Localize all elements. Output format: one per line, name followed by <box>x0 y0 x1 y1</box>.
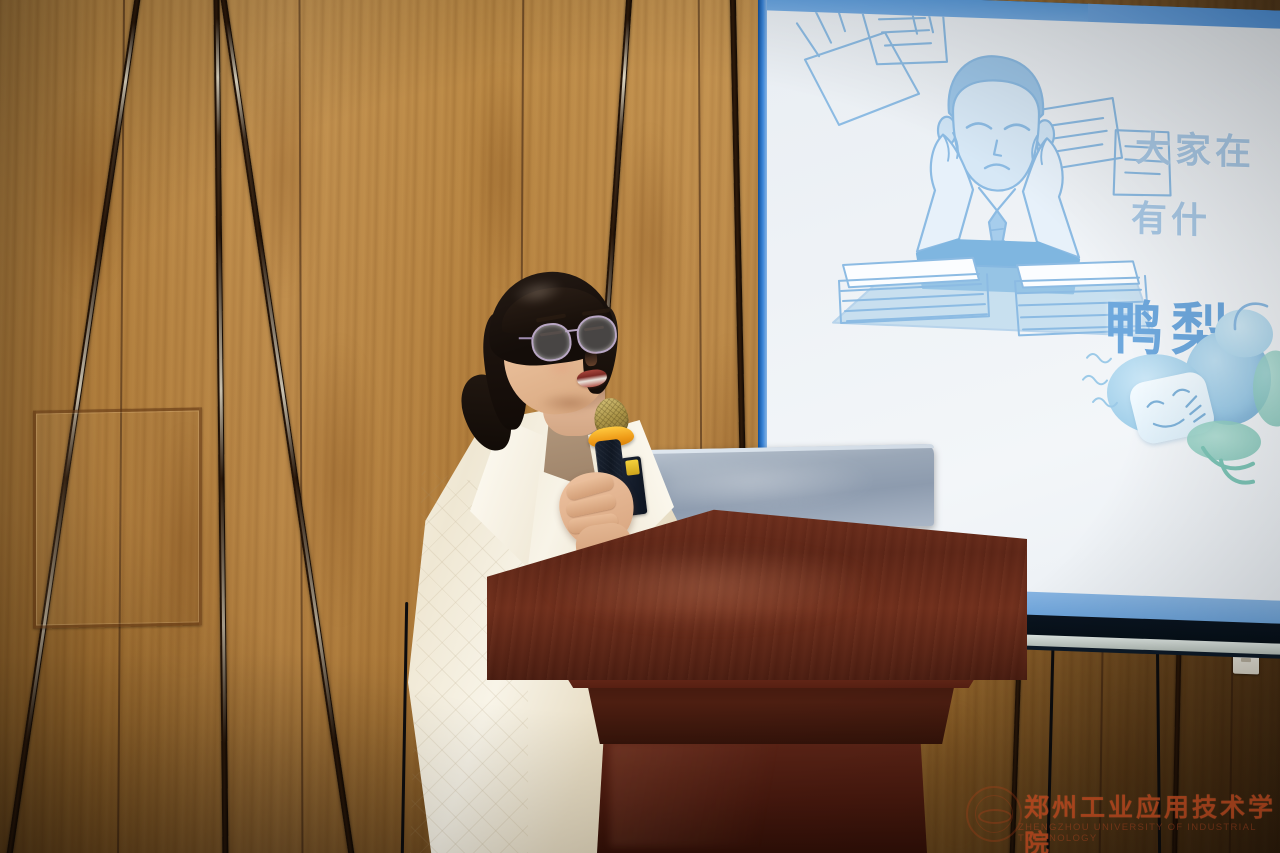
speaker-nose <box>584 349 598 366</box>
slide-headline-1: 大家在 <box>1135 119 1255 175</box>
wood-grain <box>620 120 680 370</box>
podium-base-highlight <box>610 742 820 847</box>
pear-stem <box>1219 295 1280 338</box>
glasses-lens-right <box>575 313 619 356</box>
podium-highlight <box>541 546 876 629</box>
wall-access-panel <box>33 407 202 628</box>
sweat-marks <box>1079 339 1209 424</box>
glasses-lens-left <box>529 321 573 364</box>
chin-shadow <box>538 392 602 414</box>
photo-scene: 大家在 有什 鸭梨 <box>0 0 1280 853</box>
glasses-temple <box>519 337 533 339</box>
character-arms <box>1191 425 1280 498</box>
clicker-label <box>625 459 640 475</box>
laptop-highlight <box>669 460 876 514</box>
slide-headline-2: 有什 <box>1131 189 1211 244</box>
